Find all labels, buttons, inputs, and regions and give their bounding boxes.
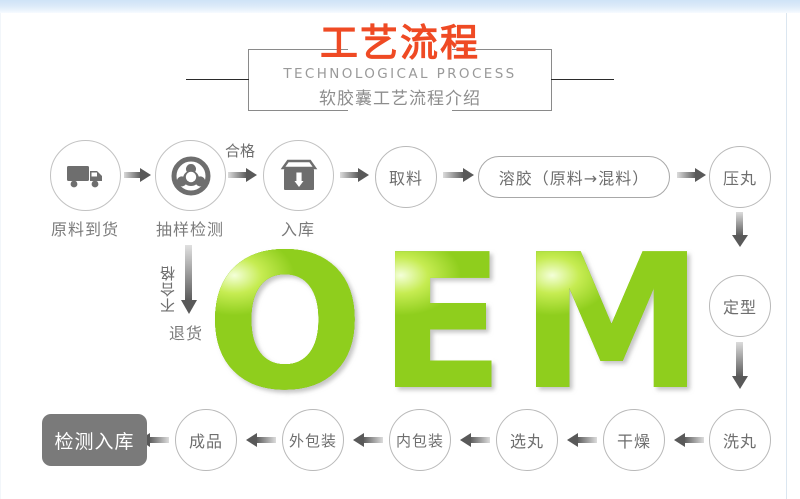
watermark-letter-e: E — [378, 238, 505, 408]
node-outer-packaging-label: 外包装 — [289, 430, 337, 451]
node-pill-pressing-label: 压丸 — [723, 165, 757, 189]
arrow-to-material-pickup — [340, 167, 370, 183]
caption-sampling-inspection: 抽样检测 — [140, 216, 240, 240]
arrow-to-drying — [672, 432, 704, 448]
label-pass-qualified: 合格 — [225, 140, 255, 161]
node-shaping-label: 定型 — [723, 294, 757, 318]
node-inner-packaging[interactable]: 内包装 — [389, 409, 451, 471]
node-inner-packaging-label: 内包装 — [396, 430, 444, 451]
caption-raw-material-arrival: 原料到货 — [35, 216, 135, 240]
caption-warehouse-in: 入库 — [248, 216, 348, 240]
oem-watermark: O E M — [205, 238, 705, 408]
subtitle-english: TECHNOLOGICAL PROCESS — [0, 65, 800, 83]
subtitle-chinese: 软胶囊工艺流程介绍 — [0, 87, 800, 111]
node-outer-packaging[interactable]: 外包装 — [282, 409, 344, 471]
node-sampling-inspection[interactable] — [155, 140, 226, 211]
page-title: 工艺流程 — [0, 21, 800, 65]
node-pill-selection-label: 选丸 — [510, 428, 544, 452]
node-drying-label: 干燥 — [617, 428, 651, 452]
node-inspect-and-store[interactable]: 检测入库 — [42, 414, 147, 466]
process-flow-infographic: 工艺流程 TECHNOLOGICAL PROCESS 软胶囊工艺流程介绍 O E… — [0, 0, 800, 499]
node-warehouse-in[interactable] — [263, 140, 334, 211]
node-sol-gel[interactable]: 溶胶（原料→混料） — [478, 156, 670, 198]
arrow-to-finished-product — [244, 432, 276, 448]
node-raw-material-arrival[interactable] — [50, 140, 121, 211]
top-blue-band — [0, 0, 800, 13]
box-down-arrow-icon — [280, 159, 318, 193]
node-inspect-and-store-label: 检测入库 — [54, 427, 134, 454]
arrow-to-pill-washing — [731, 342, 749, 390]
node-material-pickup[interactable]: 取料 — [375, 146, 437, 208]
node-material-pickup-label: 取料 — [389, 165, 423, 189]
node-drying[interactable]: 干燥 — [603, 409, 665, 471]
watermark-letter-m: M — [519, 238, 704, 408]
arrow-to-sol-gel — [443, 167, 475, 183]
arrow-to-inner-packaging — [458, 432, 490, 448]
label-return-goods: 退货 — [146, 320, 226, 344]
arrow-to-pill-selection — [565, 432, 597, 448]
label-fail-unqualified: 不合格 — [157, 255, 178, 313]
arrow-to-warehouse-in — [228, 167, 258, 183]
arrow-to-shaping — [731, 212, 749, 248]
header: 工艺流程 TECHNOLOGICAL PROCESS 软胶囊工艺流程介绍 — [0, 13, 800, 118]
truck-icon — [66, 163, 106, 189]
node-shaping[interactable]: 定型 — [709, 275, 771, 337]
arrow-reject-down — [180, 245, 198, 315]
node-pill-washing-label: 洗丸 — [723, 428, 757, 452]
node-pill-washing[interactable]: 洗丸 — [709, 409, 771, 471]
node-sol-gel-label: 溶胶（原料→混料） — [499, 165, 649, 189]
inspection-icon — [171, 156, 211, 196]
node-pill-selection[interactable]: 选丸 — [496, 409, 558, 471]
node-pill-pressing[interactable]: 压丸 — [709, 146, 771, 208]
arrow-to-pill-pressing — [677, 167, 707, 183]
arrow-to-sampling-inspection — [124, 167, 152, 183]
node-finished-product[interactable]: 成品 — [175, 409, 237, 471]
watermark-letter-o: O — [206, 238, 364, 408]
arrow-to-outer-packaging — [351, 432, 383, 448]
node-finished-product-label: 成品 — [189, 428, 223, 452]
